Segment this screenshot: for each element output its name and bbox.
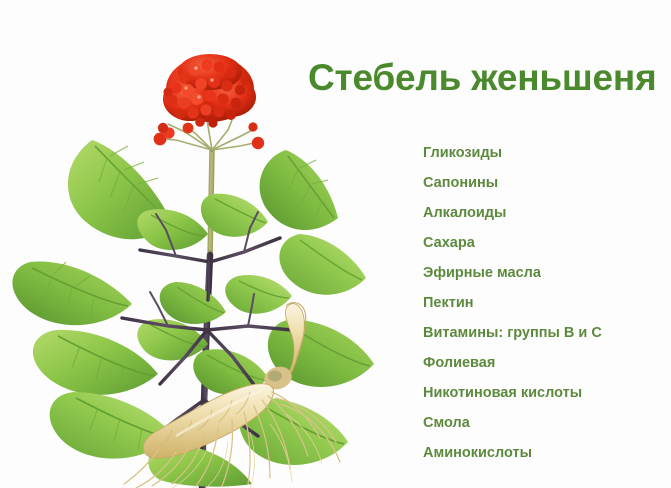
list-item: Аминокислоты [423,438,668,468]
list-item: Эфирные масла [423,258,668,288]
components-list: Гликозиды Сапонины Алкалоиды Сахара Эфир… [423,138,668,468]
leaf-upper-right-2 [279,234,366,295]
slide-root: Стебель женьшеня Гликозиды Сапонины Алка… [0,0,671,488]
list-item: Сапонины [423,168,668,198]
list-item: Никотиновая кислоты [423,378,668,408]
leaf-upper-right-1 [260,150,338,230]
list-item: Смола [423,408,668,438]
list-item: Пектин [423,288,668,318]
leaf-center-2 [225,275,292,314]
list-item: Алкалоиды [423,198,668,228]
list-item: Сахара [423,228,668,258]
list-item: Витамины: группы В и С [423,318,668,348]
list-item: Гликозиды [423,138,668,168]
page-title: Стебель женьшеня [308,55,658,101]
leaf-center-6 [137,209,208,250]
list-item: Фолиевая [423,348,668,378]
leaf-center-1 [160,282,226,324]
leaf-mid-left-1 [12,261,132,325]
